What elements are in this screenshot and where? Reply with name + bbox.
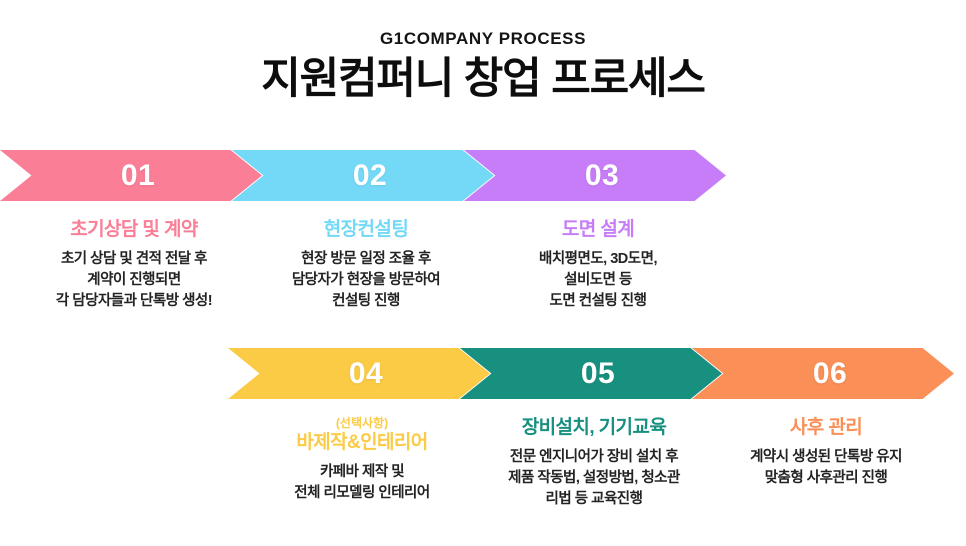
step-title-06: 사후 관리 bbox=[692, 416, 960, 440]
step-body-05: 전문 엔지니어가 장비 설치 후 제품 작동법, 설정방법, 청소관 리법 등 … bbox=[460, 447, 728, 510]
process-step-06[interactable]: 06 사후 관리 계약시 생성된 단톡방 유지 맞춤형 사후관리 진행 bbox=[692, 346, 960, 546]
step-title-02: 현장컨설팅 bbox=[232, 218, 500, 242]
step-body-04: 카페바 제작 및 전체 리모델링 인테리어 bbox=[228, 462, 496, 504]
process-step-04[interactable]: 04 (선택사항) 바제작&인테리어 카페바 제작 및 전체 리모델링 인테리어 bbox=[228, 346, 496, 546]
step-body-line: 카페바 제작 및 bbox=[228, 462, 496, 483]
step-number-03: 03 bbox=[585, 161, 619, 191]
process-row-second: 04 (선택사항) 바제작&인테리어 카페바 제작 및 전체 리모델링 인테리어… bbox=[0, 346, 966, 546]
arrow-banner-01: 01 bbox=[0, 148, 268, 204]
step-body-line: 계약시 생성된 단톡방 유지 bbox=[692, 447, 960, 468]
arrow-banner-04: 04 bbox=[228, 346, 496, 402]
arrow-shape-01: 01 bbox=[0, 150, 262, 201]
step-body-line: 제품 작동법, 설정방법, 청소관 bbox=[460, 468, 728, 489]
arrow-banner-02: 02 bbox=[232, 148, 500, 204]
arrow-shape-06: 06 bbox=[692, 348, 954, 399]
step-body-line: 컨설팅 진행 bbox=[232, 291, 500, 312]
process-step-02[interactable]: 02 현장컨설팅 현장 방문 일정 조율 후 담당자가 현장을 방문하여 컨설팅… bbox=[232, 148, 500, 348]
step-body-line: 리법 등 교육진행 bbox=[460, 489, 728, 510]
process-step-05[interactable]: 05 장비설치, 기기교육 전문 엔지니어가 장비 설치 후 제품 작동법, 설… bbox=[460, 346, 728, 546]
step-number-04: 04 bbox=[349, 359, 383, 389]
step-text-05: 장비설치, 기기교육 전문 엔지니어가 장비 설치 후 제품 작동법, 설정방법… bbox=[460, 402, 728, 510]
step-title-03: 도면 설계 bbox=[464, 218, 732, 242]
step-optional-tag-04: (선택사항) bbox=[228, 416, 496, 430]
step-text-01: 초기상담 및 계약 초기 상담 및 견적 전달 후 계약이 진행되면 각 담당자… bbox=[0, 204, 268, 312]
step-body-line: 설비도면 등 bbox=[464, 270, 732, 291]
step-title-05: 장비설치, 기기교육 bbox=[460, 416, 728, 440]
step-title-01: 초기상담 및 계약 bbox=[0, 218, 268, 242]
arrow-shape-02: 02 bbox=[232, 150, 494, 201]
step-body-line: 배치평면도, 3D도면, bbox=[464, 249, 732, 270]
arrow-shape-05: 05 bbox=[460, 348, 722, 399]
step-body-line: 도면 컨설팅 진행 bbox=[464, 291, 732, 312]
step-body-line: 현장 방문 일정 조율 후 bbox=[232, 249, 500, 270]
arrow-banner-06: 06 bbox=[692, 346, 960, 402]
step-number-02: 02 bbox=[353, 161, 387, 191]
page-header: G1COMPANY PROCESS 지원컴퍼니 창업 프로세스 bbox=[0, 0, 966, 104]
step-text-02: 현장컨설팅 현장 방문 일정 조율 후 담당자가 현장을 방문하여 컨설팅 진행 bbox=[232, 204, 500, 312]
step-body-line: 계약이 진행되면 bbox=[0, 270, 268, 291]
step-body-line: 전문 엔지니어가 장비 설치 후 bbox=[460, 447, 728, 468]
arrow-shape-04: 04 bbox=[228, 348, 490, 399]
process-step-01[interactable]: 01 초기상담 및 계약 초기 상담 및 견적 전달 후 계약이 진행되면 각 … bbox=[0, 148, 268, 348]
step-body-line: 맞춤형 사후관리 진행 bbox=[692, 468, 960, 489]
step-number-01: 01 bbox=[121, 161, 155, 191]
step-body-01: 초기 상담 및 견적 전달 후 계약이 진행되면 각 담당자들과 단톡방 생성! bbox=[0, 249, 268, 312]
step-body-06: 계약시 생성된 단톡방 유지 맞춤형 사후관리 진행 bbox=[692, 447, 960, 489]
header-eyebrow: G1COMPANY PROCESS bbox=[0, 30, 966, 49]
step-title-04: 바제작&인테리어 bbox=[228, 431, 496, 455]
arrow-banner-03: 03 bbox=[464, 148, 732, 204]
step-body-line: 각 담당자들과 단톡방 생성! bbox=[0, 291, 268, 312]
step-number-05: 05 bbox=[581, 359, 615, 389]
step-body-line: 초기 상담 및 견적 전달 후 bbox=[0, 249, 268, 270]
step-text-04: (선택사항) 바제작&인테리어 카페바 제작 및 전체 리모델링 인테리어 bbox=[228, 402, 496, 504]
step-text-06: 사후 관리 계약시 생성된 단톡방 유지 맞춤형 사후관리 진행 bbox=[692, 402, 960, 489]
step-text-03: 도면 설계 배치평면도, 3D도면, 설비도면 등 도면 컨설팅 진행 bbox=[464, 204, 732, 312]
arrow-shape-03: 03 bbox=[464, 150, 726, 201]
page-title: 지원컴퍼니 창업 프로세스 bbox=[0, 55, 966, 104]
process-row-first: 01 초기상담 및 계약 초기 상담 및 견적 전달 후 계약이 진행되면 각 … bbox=[0, 148, 966, 348]
step-body-line: 전체 리모델링 인테리어 bbox=[228, 483, 496, 504]
arrow-banner-05: 05 bbox=[460, 346, 728, 402]
process-step-03[interactable]: 03 도면 설계 배치평면도, 3D도면, 설비도면 등 도면 컨설팅 진행 bbox=[464, 148, 732, 348]
step-body-03: 배치평면도, 3D도면, 설비도면 등 도면 컨설팅 진행 bbox=[464, 249, 732, 312]
step-number-06: 06 bbox=[813, 359, 847, 389]
step-body-02: 현장 방문 일정 조율 후 담당자가 현장을 방문하여 컨설팅 진행 bbox=[232, 249, 500, 312]
step-body-line: 담당자가 현장을 방문하여 bbox=[232, 270, 500, 291]
